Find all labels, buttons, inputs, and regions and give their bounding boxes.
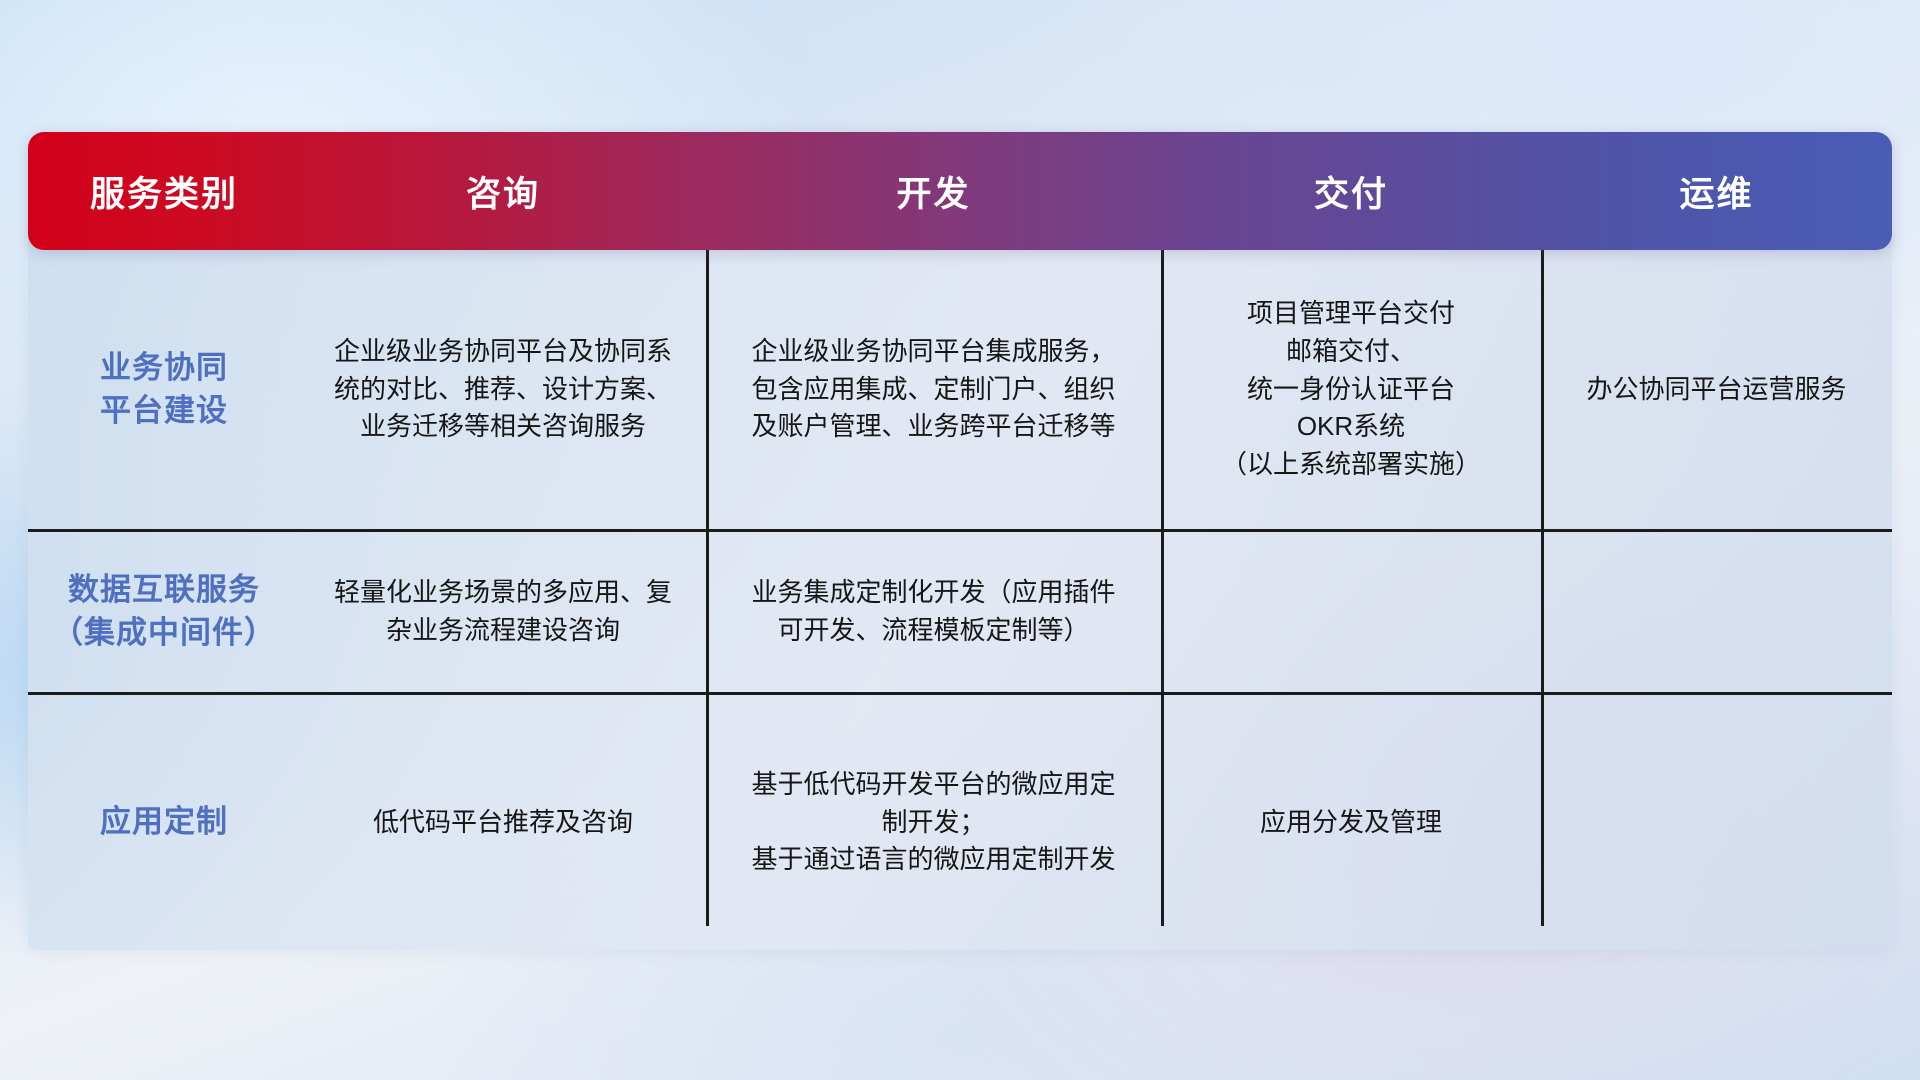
column-header-category: 服务类别 <box>28 166 300 217</box>
cell-development-row1: 企业级业务协同平台集成服务， 包含应用集成、定制门户、组织 及账户管理、业务跨平… <box>706 250 1161 529</box>
column-header-delivery: 交付 <box>1161 166 1541 217</box>
cell-text: 轻量化业务场景的多应用、复 杂业务流程建设咨询 <box>334 574 672 649</box>
category-label: 应用定制 <box>100 801 228 844</box>
column-header-operations: 运维 <box>1541 166 1892 217</box>
cell-category-row1: 业务协同 平台建设 <box>28 250 300 529</box>
cell-delivery-row1: 项目管理平台交付 邮箱交付、 统一身份认证平台 OKR系统 （以上系统部署实施） <box>1161 250 1541 529</box>
cell-delivery-row2 <box>1161 532 1541 692</box>
cell-consulting-row2: 轻量化业务场景的多应用、复 杂业务流程建设咨询 <box>300 532 706 692</box>
table-header-row: 服务类别 咨询 开发 交付 运维 <box>28 132 1892 250</box>
cell-text: 基于低代码开发平台的微应用定 制开发； 基于通过语言的微应用定制开发 <box>751 766 1115 879</box>
cell-operations-row3 <box>1541 695 1892 950</box>
cell-text: 企业级业务协同平台集成服务， 包含应用集成、定制门户、组织 及账户管理、业务跨平… <box>751 333 1115 446</box>
cell-delivery-row3: 应用分发及管理 <box>1161 695 1541 950</box>
table-row: 应用定制 低代码平台推荐及咨询 基于低代码开发平台的微应用定 制开发； 基于通过… <box>28 695 1892 950</box>
cell-text: 低代码平台推荐及咨询 <box>373 804 633 842</box>
cell-category-row2: 数据互联服务 （集成中间件） <box>28 532 300 692</box>
cell-category-row3: 应用定制 <box>28 695 300 950</box>
cell-consulting-row3: 低代码平台推荐及咨询 <box>300 695 706 950</box>
cell-text: 应用分发及管理 <box>1260 804 1442 842</box>
cell-text: 办公协同平台运营服务 <box>1586 371 1846 409</box>
service-matrix-table: 服务类别 咨询 开发 交付 运维 业务协同 平台建设 企业级业务协同平台及协同系… <box>28 132 1892 950</box>
cell-development-row2: 业务集成定制化开发（应用插件 可开发、流程模板定制等） <box>706 532 1161 692</box>
cell-consulting-row1: 企业级业务协同平台及协同系 统的对比、推荐、设计方案、 业务迁移等相关咨询服务 <box>300 250 706 529</box>
column-header-development: 开发 <box>706 166 1161 217</box>
column-header-consulting: 咨询 <box>300 166 706 217</box>
category-label: 业务协同 平台建设 <box>100 347 228 433</box>
cell-text: 企业级业务协同平台及协同系 统的对比、推荐、设计方案、 业务迁移等相关咨询服务 <box>334 333 672 446</box>
cell-operations-row2 <box>1541 532 1892 692</box>
cell-development-row3: 基于低代码开发平台的微应用定 制开发； 基于通过语言的微应用定制开发 <box>706 695 1161 950</box>
cell-operations-row1: 办公协同平台运营服务 <box>1541 250 1892 529</box>
category-label: 数据互联服务 （集成中间件） <box>52 569 276 655</box>
cell-text: 项目管理平台交付 邮箱交付、 统一身份认证平台 OKR系统 （以上系统部署实施） <box>1221 295 1481 483</box>
table-row: 业务协同 平台建设 企业级业务协同平台及协同系 统的对比、推荐、设计方案、 业务… <box>28 250 1892 532</box>
table-row: 数据互联服务 （集成中间件） 轻量化业务场景的多应用、复 杂业务流程建设咨询 业… <box>28 532 1892 695</box>
table-body: 业务协同 平台建设 企业级业务协同平台及协同系 统的对比、推荐、设计方案、 业务… <box>28 250 1892 950</box>
cell-text: 业务集成定制化开发（应用插件 可开发、流程模板定制等） <box>751 574 1115 649</box>
